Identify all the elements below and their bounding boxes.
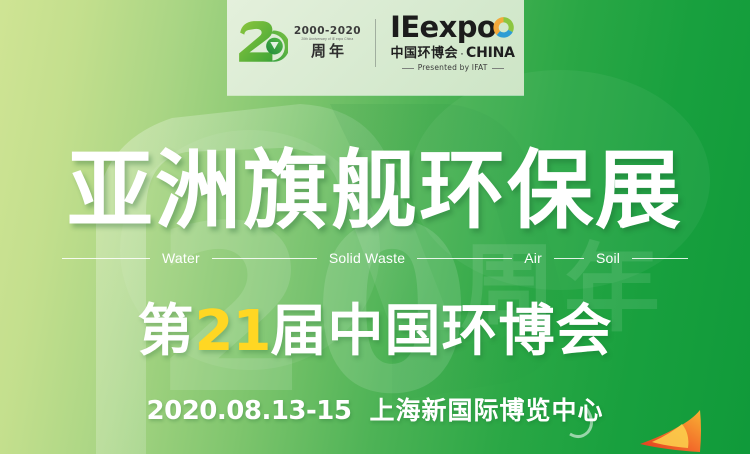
anniversary-years: 2000-2020 (294, 26, 361, 37)
sub-headline: 第21届中国环博会 (0, 303, 750, 360)
rule-right (492, 68, 504, 69)
main-headline: 亚洲旗舰环保展 (0, 148, 750, 234)
anniversary-logo: 2000-2020 20th Anniversary of IE expo Ch… (236, 17, 361, 69)
anniversary-subtitle-en: 20th Anniversary of IE expo China (302, 38, 354, 41)
ieexpo-circle-icon (492, 16, 515, 39)
anniversary-20-recycle-mark (236, 17, 288, 69)
ieexpo-region: CHINA (466, 46, 515, 60)
ieexpo-cn-name: 中国环博会 (391, 46, 459, 59)
pillar-label-soil: Soil (584, 250, 632, 266)
pillar-rule-2 (212, 258, 317, 259)
subhead-edition-number: 21 (195, 299, 271, 364)
subhead-prefix: 第 (138, 299, 195, 362)
anniversary-cn-label: 周年 (308, 44, 347, 59)
ieexpo-word-expo: expo (420, 13, 497, 42)
pillar-label-air: Air (512, 250, 554, 266)
vertical-divider (375, 19, 376, 67)
poster-canvas: 20 周年 (0, 0, 750, 454)
pillar-label-water: Water (150, 250, 212, 266)
ieexpo-separator: · (460, 47, 464, 59)
event-date: 2020.08.13-15 (147, 396, 352, 426)
ieexpo-word-ie: IE (390, 13, 419, 42)
event-info-line: 2020.08.13-15上海新国际博览中心 (0, 391, 750, 427)
pillar-label-solid-waste: Solid Waste (317, 250, 417, 266)
pillars-row: Water Solid Waste Air Soil (62, 250, 688, 266)
rule-left (402, 68, 414, 69)
ieexpo-logo: IE expo 中国环博会 · CHINA Presented by IFAT (390, 13, 515, 72)
pillar-rule-1 (62, 258, 150, 259)
pillar-rule-5 (632, 258, 688, 259)
header-logo-panel: 2000-2020 20th Anniversary of IE expo Ch… (227, 0, 524, 95)
subhead-suffix: 届中国环博会 (270, 299, 612, 362)
event-venue: 上海新国际博览中心 (369, 397, 603, 425)
ieexpo-presented-by: Presented by IFAT (418, 64, 488, 72)
pillar-rule-4 (554, 258, 584, 259)
pillar-rule-3 (417, 258, 512, 259)
